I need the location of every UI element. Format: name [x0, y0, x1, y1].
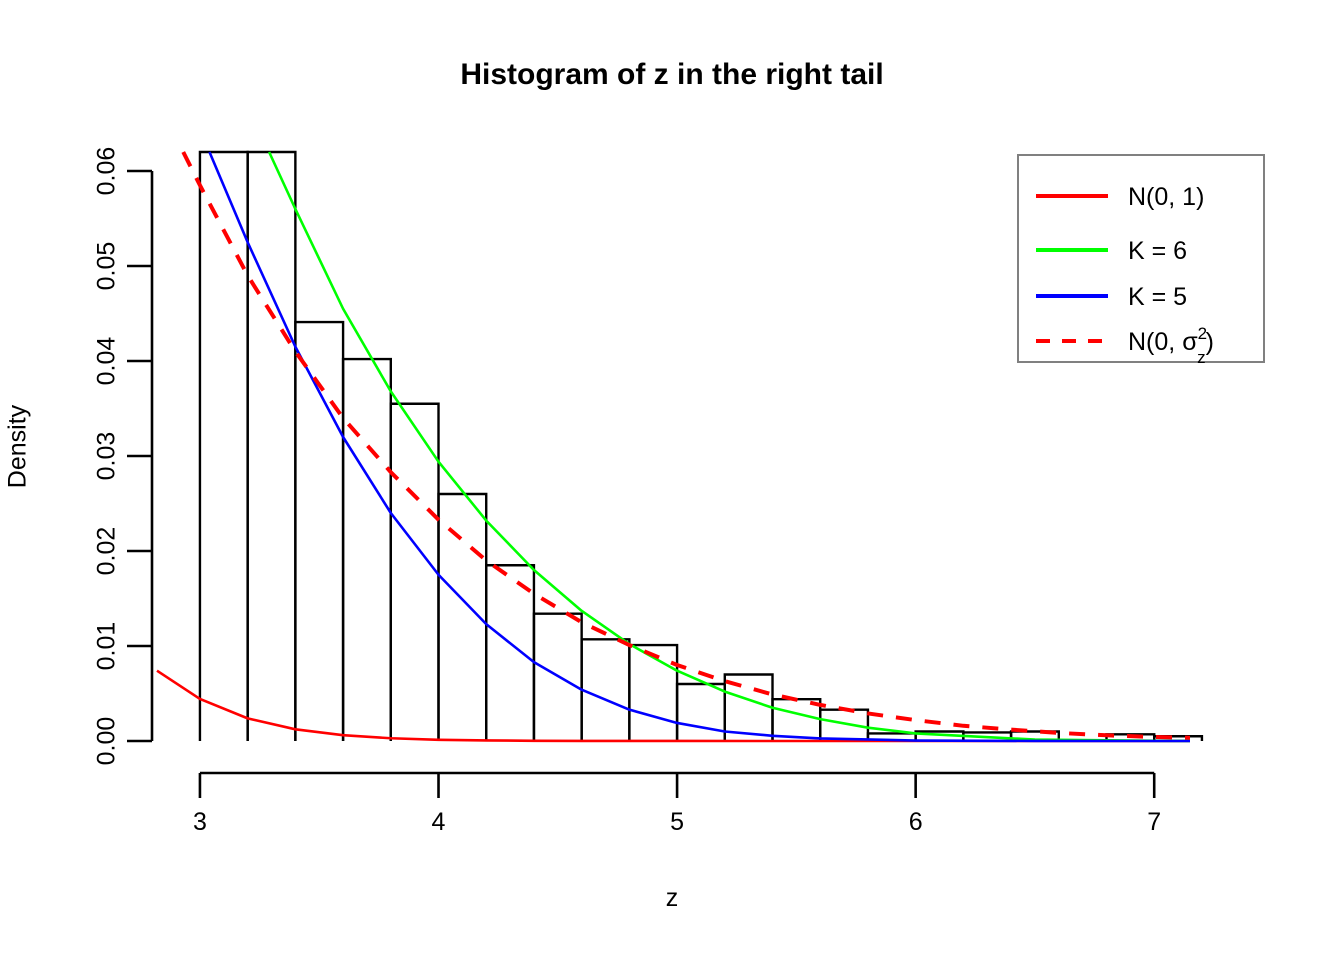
x-axis-tick-label: 7 [1147, 808, 1161, 836]
x-axis-tick-label: 6 [909, 808, 923, 836]
histogram-bar [248, 152, 296, 741]
legend-label-0: N(0, 1) [1128, 183, 1204, 211]
chart-canvas: Histogram of z in the right tail Density… [0, 0, 1344, 960]
y-axis-tick-label: 0.04 [93, 337, 121, 386]
y-axis-tick-label: 0.06 [93, 147, 121, 196]
y-axis-tick-label: 0.03 [93, 432, 121, 481]
histogram-bar [582, 639, 630, 741]
y-axis-tick-label: 0.02 [93, 527, 121, 576]
histogram-bar [773, 699, 821, 741]
y-axis-tick-label: 0.01 [93, 622, 121, 671]
histogram-bar [677, 684, 725, 741]
legend-label-2: K = 5 [1128, 283, 1187, 311]
chart-plot-area: 0.000.010.020.030.040.050.0634567 N(0, 1… [0, 0, 1344, 960]
histogram-bar [486, 565, 534, 741]
legend: N(0, 1)K = 6K = 5N(0, σ2z) [1018, 155, 1264, 367]
histogram-bar [343, 359, 391, 741]
x-axis-tick-label: 5 [670, 808, 684, 836]
x-axis-tick-label: 4 [432, 808, 446, 836]
histogram-bar [200, 152, 248, 741]
histogram-bar [391, 404, 439, 741]
y-axis-tick-label: 0.05 [93, 242, 121, 291]
legend-label-1: K = 6 [1128, 237, 1187, 265]
x-axis-tick-label: 3 [193, 808, 207, 836]
histogram-bar [629, 645, 677, 741]
y-axis-tick-label: 0.00 [93, 717, 121, 766]
